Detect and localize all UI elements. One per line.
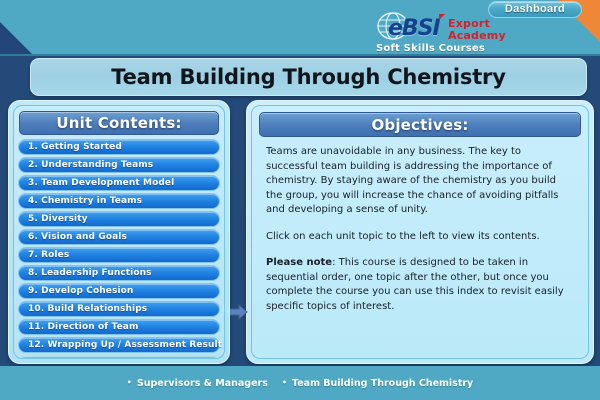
objectives-header: Objectives:	[259, 112, 581, 137]
breadcrumb-item-label: Team Building Through Chemistry	[292, 378, 473, 389]
unit-list-item-label: 12. Wrapping Up / Assessment Result	[28, 340, 222, 350]
forums-link[interactable]: Forums	[18, 355, 220, 359]
unit-contents-panel: Unit Contents: 1. Getting Started 2. Und…	[8, 100, 230, 364]
logo-line-academy: Academy	[448, 30, 506, 41]
breadcrumb-item[interactable]: • Supervisors & Managers	[127, 378, 268, 389]
unit-list: 1. Getting Started 2. Understanding Team…	[14, 139, 224, 359]
unit-list-item-label: 7. Roles	[28, 250, 69, 260]
page-title-bar: Team Building Through Chemistry	[30, 58, 587, 96]
unit-contents-header: Unit Contents:	[19, 111, 219, 135]
unit-list-item-label: 2. Understanding Teams	[28, 160, 153, 170]
unit-list-item[interactable]: 8. Leadership Functions	[18, 265, 220, 281]
page-title: Team Building Through Chemistry	[111, 65, 505, 89]
header-navy-corner-decoration	[0, 22, 34, 56]
breadcrumb-item[interactable]: • Team Building Through Chemistry	[282, 378, 473, 389]
logo-line-export: Export	[448, 18, 490, 29]
unit-list-item-label: 4. Chemistry in Teams	[28, 196, 142, 206]
unit-list-item-label: 3. Team Development Model	[28, 178, 174, 188]
objectives-paragraph: Click on each unit topic to the left to …	[266, 230, 574, 245]
logo-tagline: Soft Skills Courses	[376, 43, 485, 54]
objectives-header-label: Objectives:	[371, 116, 468, 134]
unit-list-item[interactable]: 5. Diversity	[18, 211, 220, 227]
breadcrumb: • Supervisors & Managers • Team Building…	[127, 378, 474, 389]
arrow-right-icon	[230, 304, 248, 320]
breadcrumb-item-label: Supervisors & Managers	[137, 378, 268, 389]
unit-list-item[interactable]: 4. Chemistry in Teams	[18, 193, 220, 209]
unit-contents-header-label: Unit Contents:	[56, 114, 181, 132]
unit-list-item-label: 10. Build Relationships	[28, 304, 147, 314]
flag-icon	[439, 14, 445, 20]
unit-list-item[interactable]: 12. Wrapping Up / Assessment Result	[18, 337, 220, 353]
objectives-paragraph: Teams are unavoidable in any business. T…	[266, 145, 574, 218]
header-divider	[0, 54, 600, 56]
unit-list-item[interactable]: 9. Develop Cohesion	[18, 283, 220, 299]
unit-list-item[interactable]: 6. Vision and Goals	[18, 229, 220, 245]
ebsi-logo: eBSI Export Academy Soft Skills Courses	[376, 12, 526, 56]
objectives-panel: Objectives: Teams are unavoidable in any…	[246, 100, 594, 364]
unit-list-item[interactable]: 7. Roles	[18, 247, 220, 263]
bullet-icon: •	[127, 379, 132, 387]
unit-list-item-label: 6. Vision and Goals	[28, 232, 127, 242]
logo-wordmark: eBSI	[388, 16, 440, 41]
unit-contents-panel-inner: Unit Contents: 1. Getting Started 2. Und…	[13, 105, 225, 359]
unit-list-item[interactable]: 11. Direction of Team	[18, 319, 220, 335]
objectives-note-label: Please note	[266, 257, 332, 268]
unit-list-item[interactable]: 2. Understanding Teams	[18, 157, 220, 173]
unit-list-item-label: 9. Develop Cohesion	[28, 286, 133, 296]
forums-label: Forums	[41, 359, 79, 360]
course-index-page: eBSI Export Academy Soft Skills Courses …	[0, 0, 600, 400]
unit-list-item-label: 1. Getting Started	[28, 142, 122, 152]
objectives-panel-inner: Objectives: Teams are unavoidable in any…	[251, 105, 589, 359]
unit-list-item-label: 5. Diversity	[28, 214, 88, 224]
unit-list-item-label: 11. Direction of Team	[28, 322, 138, 332]
dashboard-button[interactable]: Dashboard	[488, 1, 582, 18]
objectives-body: Teams are unavoidable in any business. T…	[252, 143, 588, 314]
unit-list-item[interactable]: 3. Team Development Model	[18, 175, 220, 191]
unit-list-item[interactable]: 1. Getting Started	[18, 139, 220, 155]
content-area: Unit Contents: 1. Getting Started 2. Und…	[0, 96, 600, 366]
bullet-icon: •	[282, 379, 287, 387]
unit-list-item-label: 8. Leadership Functions	[28, 268, 152, 278]
page-footer: • Supervisors & Managers • Team Building…	[0, 366, 600, 400]
objectives-note: Please note: This course is designed to …	[266, 256, 574, 314]
unit-list-item[interactable]: 10. Build Relationships	[18, 301, 220, 317]
page-header: eBSI Export Academy Soft Skills Courses …	[0, 0, 600, 56]
